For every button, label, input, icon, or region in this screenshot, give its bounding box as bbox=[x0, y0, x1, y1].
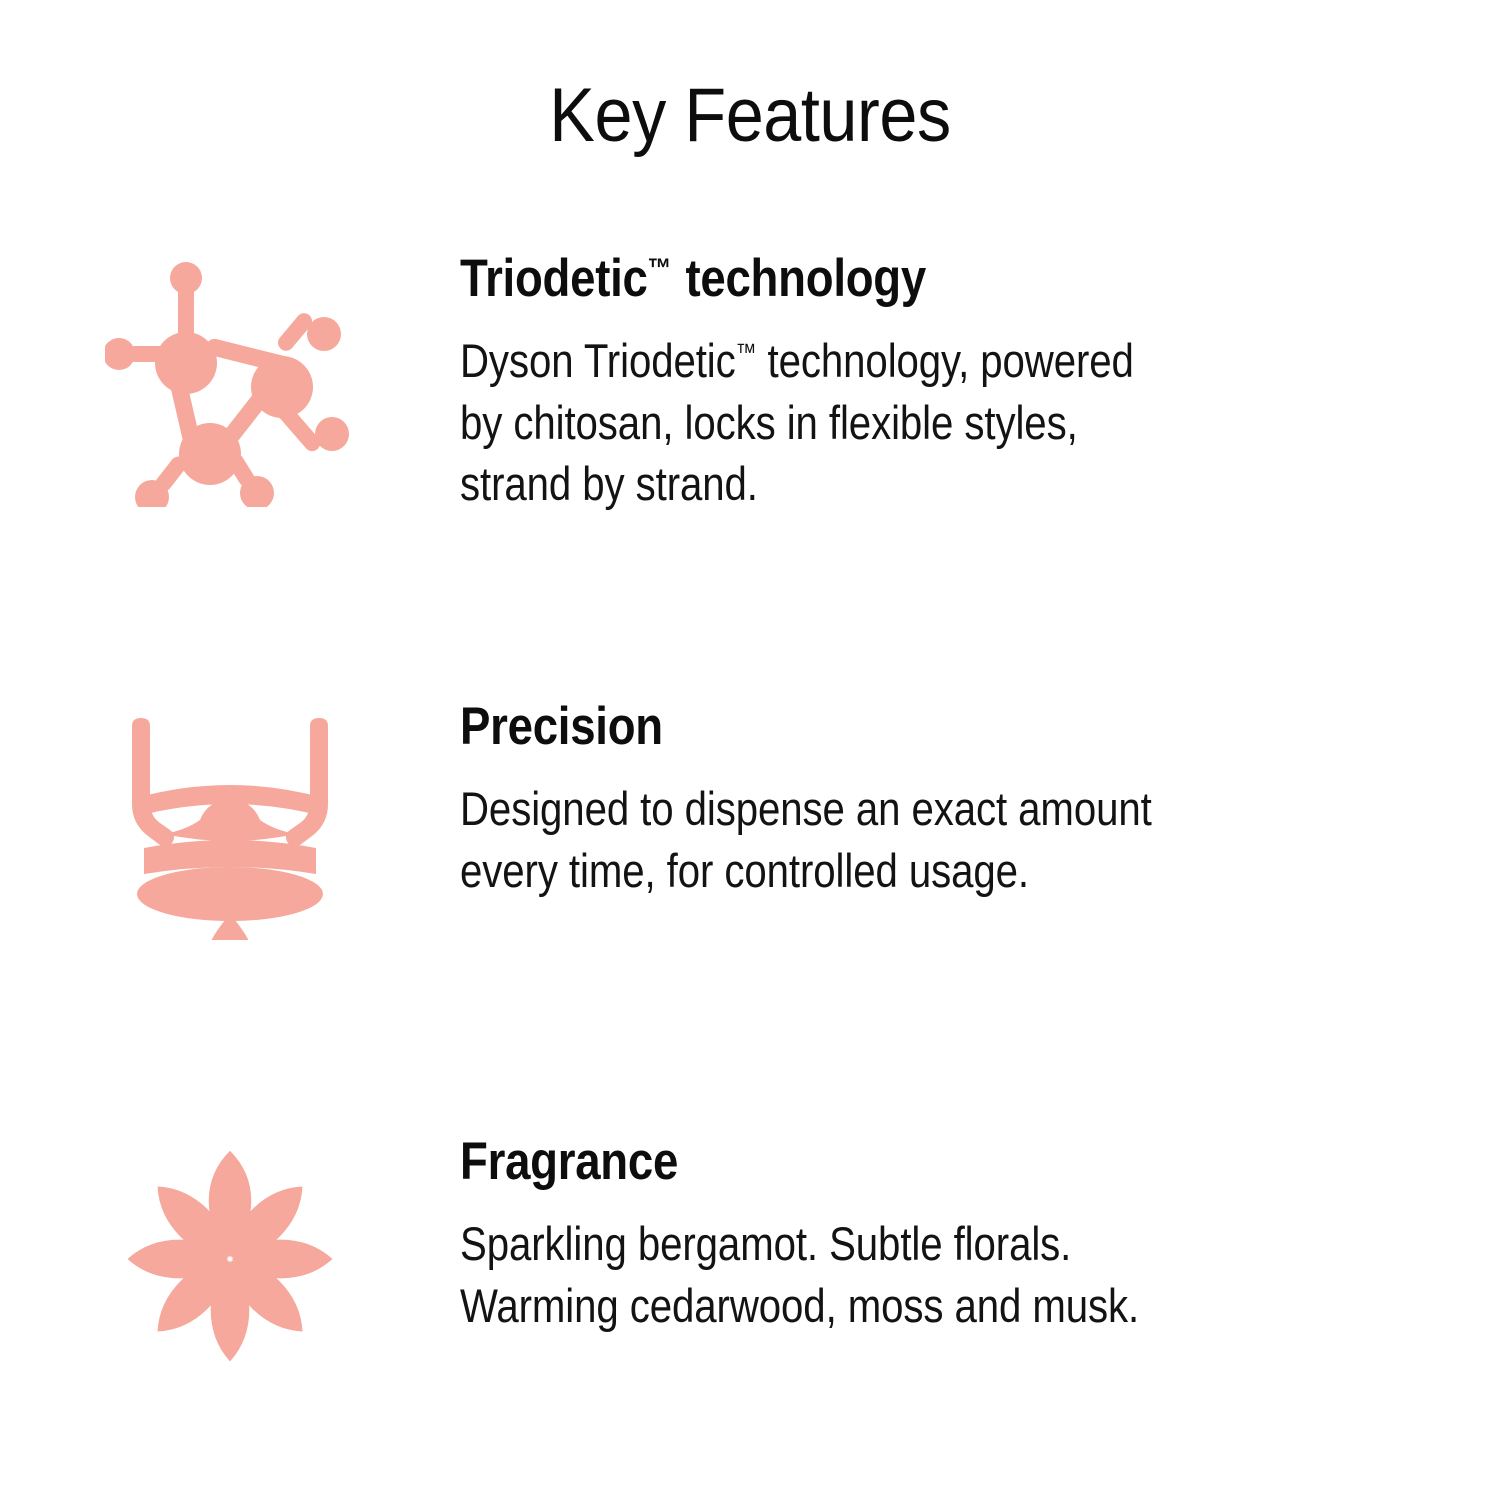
feature-item-fragrance: Fragrance Sparkling bergamot. Subtle flo… bbox=[0, 1135, 1500, 1375]
feature-item-precision: Precision Designed to dispense an exact … bbox=[0, 700, 1500, 940]
body-text: technology, powered bbox=[756, 334, 1133, 387]
feature-body: Designed to dispense an exact amount eve… bbox=[460, 778, 1350, 901]
feature-body-line: Designed to dispense an exact amount bbox=[460, 778, 1350, 840]
feature-body-line: Sparkling bergamot. Subtle florals. bbox=[460, 1213, 1350, 1275]
key-features-page: Key Features bbox=[0, 0, 1500, 1500]
body-text: strand by strand. bbox=[460, 457, 758, 510]
feature-body-line: strand by strand. bbox=[460, 453, 1350, 515]
feature-body: Dyson Triodetic™ technology, powered by … bbox=[460, 330, 1350, 515]
pump-dispenser-droplet-icon bbox=[122, 718, 338, 940]
feature-heading: Fragrance bbox=[460, 1135, 1225, 1189]
page-title: Key Features bbox=[75, 78, 1425, 154]
molecule-network-icon bbox=[105, 262, 355, 507]
feature-heading-main: Precision bbox=[460, 697, 663, 756]
flower-eight-petal-icon bbox=[106, 1143, 354, 1375]
body-text: by chitosan, locks in flexible styles, bbox=[460, 396, 1078, 449]
feature-heading: Precision bbox=[460, 700, 1225, 754]
feature-text-container: Precision Designed to dispense an exact … bbox=[460, 700, 1500, 901]
trademark-symbol: ™ bbox=[736, 339, 757, 366]
feature-heading-suffix: technology bbox=[673, 249, 926, 308]
feature-icon-container bbox=[0, 1135, 460, 1375]
trademark-symbol: ™ bbox=[648, 252, 672, 283]
feature-body-line: every time, for controlled usage. bbox=[460, 840, 1350, 902]
feature-icon-container bbox=[0, 700, 460, 940]
feature-body-line: by chitosan, locks in flexible styles, bbox=[460, 392, 1350, 454]
body-text: every time, for controlled usage. bbox=[460, 844, 1029, 897]
feature-body-line: Warming cedarwood, moss and musk. bbox=[460, 1275, 1350, 1337]
feature-text-container: Fragrance Sparkling bergamot. Subtle flo… bbox=[460, 1135, 1500, 1336]
feature-heading-main: Triodetic bbox=[460, 249, 648, 308]
body-text: Sparkling bergamot. Subtle florals. bbox=[460, 1217, 1071, 1270]
body-text: Dyson Triodetic bbox=[460, 334, 736, 387]
feature-heading: Triodetic™ technology bbox=[460, 252, 1225, 306]
feature-body-line: Dyson Triodetic™ technology, powered bbox=[460, 330, 1350, 392]
feature-icon-container bbox=[0, 252, 460, 507]
feature-item-triodetic-technology: Triodetic™ technology Dyson Triodetic™ t… bbox=[0, 252, 1500, 515]
body-text: Warming cedarwood, moss and musk. bbox=[460, 1279, 1139, 1332]
feature-body: Sparkling bergamot. Subtle florals. Warm… bbox=[460, 1213, 1350, 1336]
feature-text-container: Triodetic™ technology Dyson Triodetic™ t… bbox=[460, 252, 1500, 515]
feature-heading-main: Fragrance bbox=[460, 1132, 678, 1191]
body-text: Designed to dispense an exact amount bbox=[460, 782, 1152, 835]
